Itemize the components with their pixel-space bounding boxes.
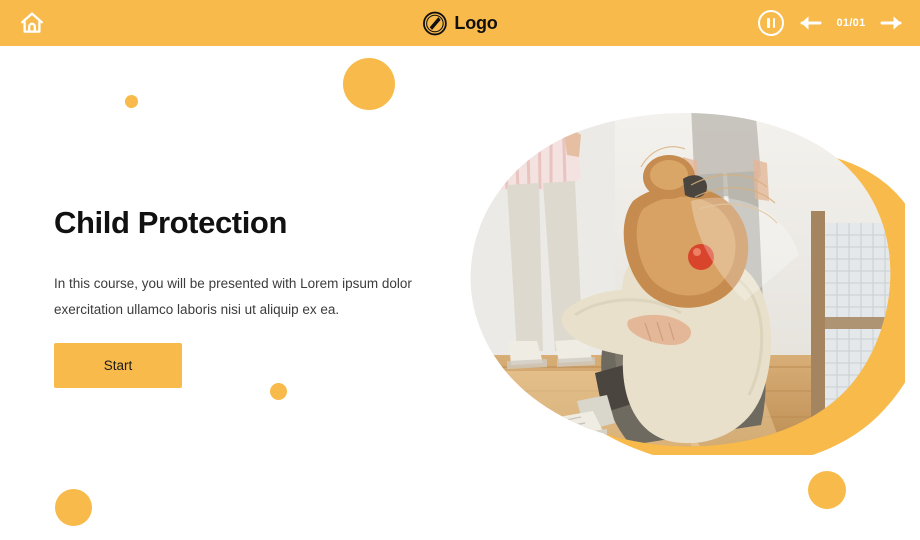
- logo-text: Logo: [454, 14, 497, 32]
- next-slide-button[interactable]: [880, 11, 904, 35]
- logo[interactable]: Logo: [422, 0, 497, 46]
- pause-button[interactable]: [758, 10, 784, 36]
- decorative-dot: [270, 383, 287, 400]
- page-title: Child Protection: [54, 205, 434, 241]
- pause-icon-bar-2: [773, 18, 776, 28]
- slide-copy: Child Protection In this course, you wil…: [54, 205, 434, 322]
- hero-artwork: [455, 105, 905, 455]
- home-button[interactable]: [16, 7, 48, 39]
- decorative-dot: [343, 58, 395, 110]
- previous-slide-button[interactable]: [798, 11, 822, 35]
- start-button[interactable]: Start: [54, 343, 182, 388]
- hero-illustration: [455, 105, 905, 455]
- decorative-dot: [125, 95, 138, 108]
- slide-description: In this course, you will be presented wi…: [54, 271, 419, 323]
- home-icon: [19, 10, 45, 36]
- pause-icon: [767, 18, 770, 28]
- player-toolbar: Logo 01/01: [0, 0, 920, 46]
- decorative-dot: [55, 489, 92, 526]
- slide-canvas: Logo 01/01: [0, 0, 920, 540]
- logo-slash-circle-icon: [422, 11, 447, 36]
- slide-counter: 01/01: [836, 17, 866, 29]
- decorative-dot: [808, 471, 846, 509]
- playback-controls: 01/01: [758, 0, 904, 46]
- arrow-left-icon: [798, 13, 822, 33]
- arrow-right-icon: [880, 13, 904, 33]
